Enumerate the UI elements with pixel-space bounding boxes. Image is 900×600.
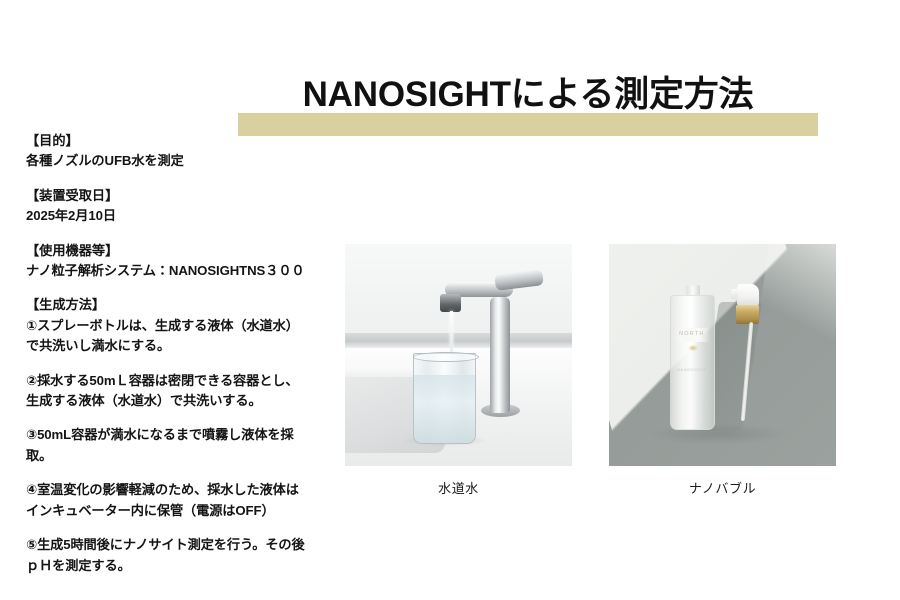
section-purpose-heading: 【目的】 bbox=[26, 131, 332, 151]
slide-canvas: NANOSIGHTによる測定方法 【目的】 各種ノズルのUFB水を測定 【装置受… bbox=[0, 0, 900, 600]
figure-tap-water: 水道水 bbox=[345, 244, 572, 497]
section-method-heading: 【生成方法】 bbox=[26, 295, 332, 315]
method-step-4-line-1: ④室温変化の影響軽減のため、採水した液体は bbox=[26, 480, 332, 500]
method-step-5-line-2: ｐＨを測定する。 bbox=[26, 556, 332, 576]
section-equipment-heading: 【使用機器等】 bbox=[26, 241, 332, 261]
sprayer-nozzle bbox=[731, 289, 739, 299]
bottle-brand-label: NORTH bbox=[674, 328, 710, 341]
section-method: 【生成方法】 ①スプレーボトルは、生成する液体（水道水） で共洗いし満水にする。 bbox=[26, 295, 332, 356]
spray-pump-assembly bbox=[736, 284, 759, 422]
bottle-crest-icon bbox=[688, 345, 697, 351]
sprayer-dip-tube bbox=[740, 323, 752, 422]
section-equipment: 【使用機器等】 ナノ粒子解析システム：NANOSIGHTNS３００ bbox=[26, 241, 332, 282]
method-step-1-line-1: ①スプレーボトルは、生成する液体（水道水） bbox=[26, 316, 332, 336]
method-step-5-line-1: ⑤生成5時間後にナノサイト測定を行う。その後 bbox=[26, 535, 332, 555]
body-text-column: 【目的】 各種ノズルのUFB水を測定 【装置受取日】 2025年2月10日 【使… bbox=[26, 131, 332, 576]
section-purpose-line-1: 各種ノズルのUFB水を測定 bbox=[26, 151, 332, 171]
faucet-body bbox=[490, 297, 509, 412]
page-title: NANOSIGHTによる測定方法 bbox=[238, 74, 818, 116]
section-equipment-line-1: ナノ粒子解析システム：NANOSIGHTNS３００ bbox=[26, 261, 332, 281]
frosted-glass-bottle bbox=[670, 295, 715, 430]
figure-nano-bubble-image: NORTH NANOSIGHT bbox=[609, 244, 836, 466]
glass-rim bbox=[413, 352, 479, 362]
method-step-4: ④室温変化の影響軽減のため、採水した液体は インキュベーター内に保管（電源はOF… bbox=[26, 480, 332, 521]
method-step-2: ②採水する50mＬ容器は密閉できる容器とし、 生成する液体（水道水）で共洗いする… bbox=[26, 371, 332, 412]
method-step-1-line-2: で共洗いし満水にする。 bbox=[26, 336, 332, 356]
section-receipt-date-line-1: 2025年2月10日 bbox=[26, 206, 332, 226]
bottle-product-label: NANOSIGHT bbox=[674, 366, 710, 388]
glass-water-fill bbox=[414, 375, 475, 442]
light-wedge-secondary bbox=[754, 244, 836, 366]
figure-nano-bubble-caption: ナノバブル bbox=[609, 478, 836, 497]
section-receipt-date: 【装置受取日】 2025年2月10日 bbox=[26, 186, 332, 227]
sprayer-gold-collar bbox=[736, 305, 759, 324]
method-step-3-line-1: ③50mL容器が満水になるまで噴霧し液体を採 bbox=[26, 425, 332, 445]
method-step-2-line-1: ②採水する50mＬ容器は密閉できる容器とし、 bbox=[26, 371, 332, 391]
sprayer-head bbox=[737, 284, 758, 306]
section-purpose: 【目的】 各種ノズルのUFB水を測定 bbox=[26, 131, 332, 172]
tap-water-photo bbox=[345, 244, 572, 466]
method-step-4-line-2: インキュベーター内に保管（電源はOFF） bbox=[26, 501, 332, 521]
figure-tap-water-caption: 水道水 bbox=[345, 478, 572, 497]
backsplash-edge bbox=[345, 333, 572, 349]
figure-tap-water-image bbox=[345, 244, 572, 466]
method-step-3: ③50mL容器が満水になるまで噴霧し液体を採 取。 bbox=[26, 425, 332, 466]
nano-bubble-photo: NORTH NANOSIGHT bbox=[609, 244, 836, 466]
section-receipt-date-heading: 【装置受取日】 bbox=[26, 186, 332, 206]
faucet-spout bbox=[440, 294, 460, 312]
figure-nano-bubble: NORTH NANOSIGHT ナノバブル bbox=[609, 244, 836, 497]
drinking-glass bbox=[413, 353, 476, 444]
method-step-5: ⑤生成5時間後にナノサイト測定を行う。その後 ｐＨを測定する。 bbox=[26, 535, 332, 576]
method-step-3-line-2: 取。 bbox=[26, 446, 332, 466]
method-step-2-line-2: 生成する液体（水道水）で共洗いする。 bbox=[26, 391, 332, 411]
